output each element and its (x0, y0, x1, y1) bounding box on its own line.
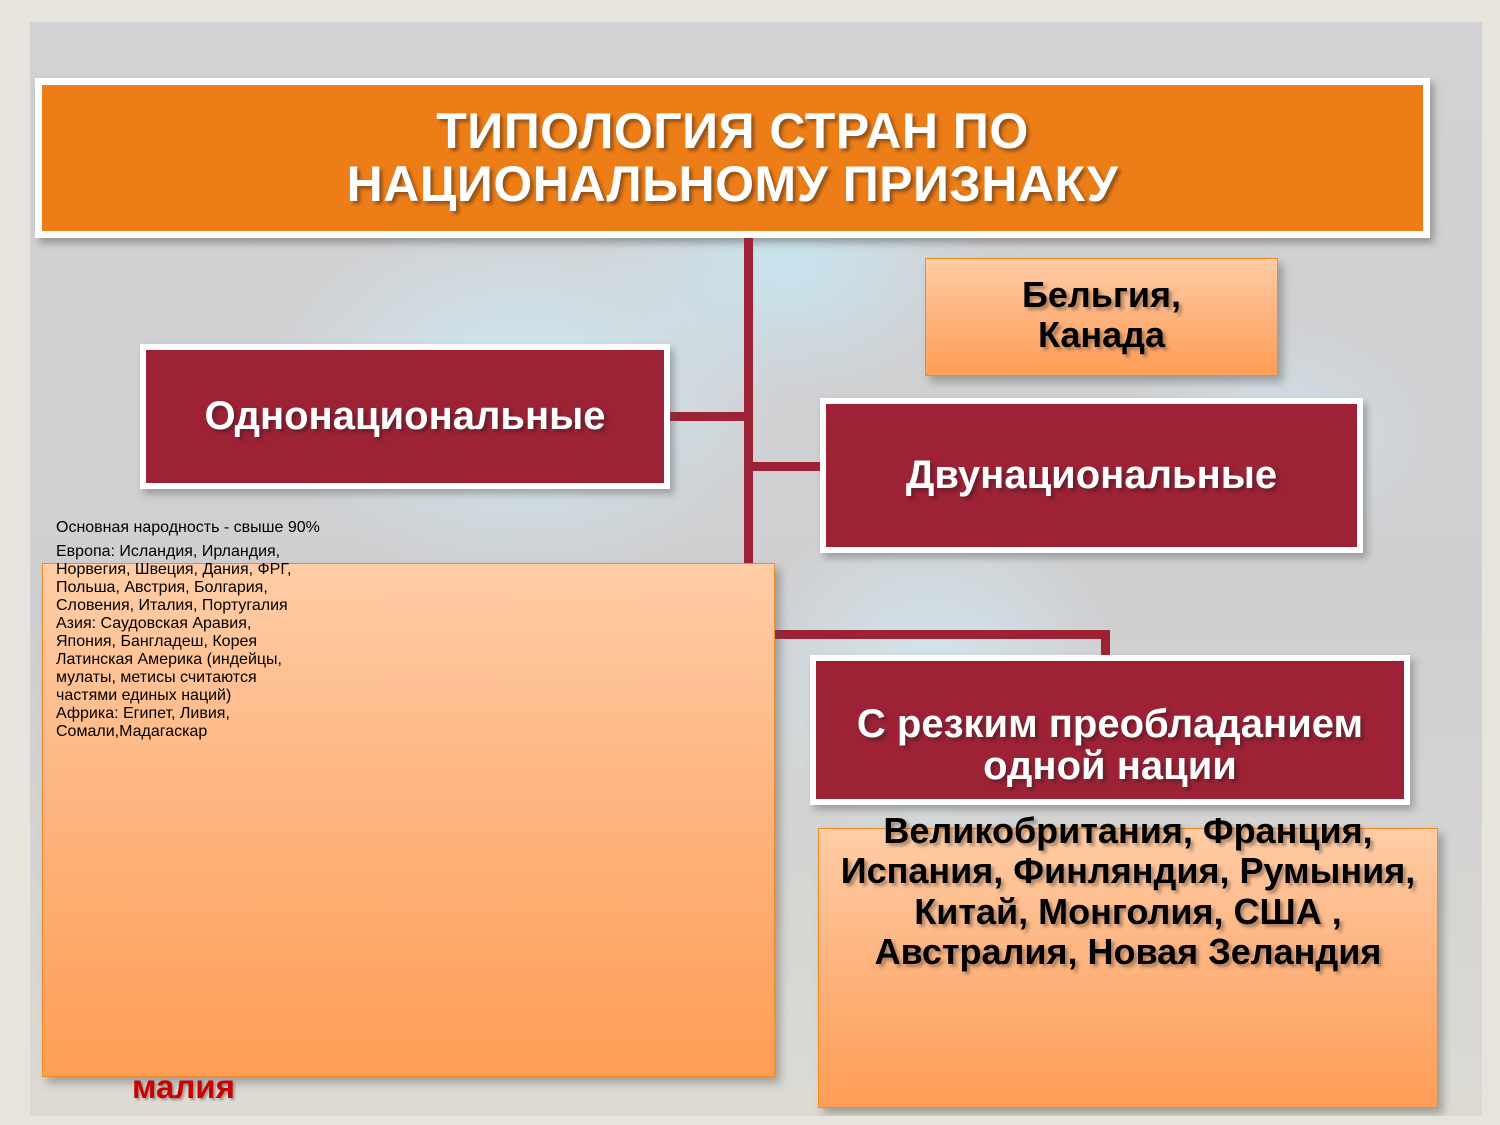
detail-mono-header: Основная народность - свыше 90% (56, 519, 765, 537)
list-item: мулаты, метисы считаются (56, 669, 765, 687)
category-label-bi: Двунациональные (906, 455, 1277, 497)
list-item: Норвегия, Швеция, Дания, ФРГ, (56, 561, 765, 579)
category-box-bi[interactable]: Двунациональные (820, 398, 1363, 553)
category-box-sharp[interactable]: С резким преобладанием одной нации (810, 655, 1410, 805)
example-label-bi-countries: Бельгия, Канада (926, 259, 1277, 372)
slide-title-bar: ТИПОЛОГИЯ СТРАН ПО НАЦИОНАЛЬНОМУ ПРИЗНАК… (35, 78, 1430, 238)
list-item: Польша, Австрия, Болгария, (56, 579, 765, 597)
list-item: Латинская Америка (индейцы, (56, 651, 765, 669)
stray-overlapping-text: малия (132, 1068, 235, 1106)
example-label-sharp-countries: Великобритания, Франция, Испания, Финлян… (819, 811, 1437, 972)
example-box-sharp-countries[interactable]: Великобритания, Франция, Испания, Финлян… (818, 828, 1438, 1108)
list-item: Африка: Египет, Ливия, (56, 705, 765, 723)
connector-branch-mono (670, 412, 748, 421)
connector-branch-sharp-horizontal (744, 630, 1110, 639)
slide-canvas: ТИПОЛОГИЯ СТРАН ПО НАЦИОНАЛЬНОМУ ПРИЗНАК… (30, 22, 1482, 1116)
category-label-sharp: С резким преобладанием одной нации (816, 704, 1404, 787)
list-item: Япония, Бангладеш, Корея (56, 633, 765, 651)
example-box-bi-countries[interactable]: Бельгия, Канада (925, 258, 1278, 376)
list-item: Европа: Исландия, Ирландия, (56, 543, 765, 561)
detail-mono-content: Основная народность - свыше 90% Европа: … (56, 519, 765, 741)
category-label-mono: Однонациональные (204, 396, 605, 438)
page-title: ТИПОЛОГИЯ СТРАН ПО НАЦИОНАЛЬНОМУ ПРИЗНАК… (347, 105, 1119, 211)
list-item: Словения, Италия, Португалия (56, 597, 765, 615)
detail-mono-lines: Европа: Исландия, Ирландия, Норвегия, Шв… (56, 543, 765, 741)
list-item: частями единых наций) (56, 687, 765, 705)
list-item: Азия: Саудовская Аравия, (56, 615, 765, 633)
connector-branch-bi (744, 462, 824, 471)
list-item: Сомали,Мадагаскар (56, 723, 765, 741)
category-box-mono[interactable]: Однонациональные (140, 344, 670, 489)
